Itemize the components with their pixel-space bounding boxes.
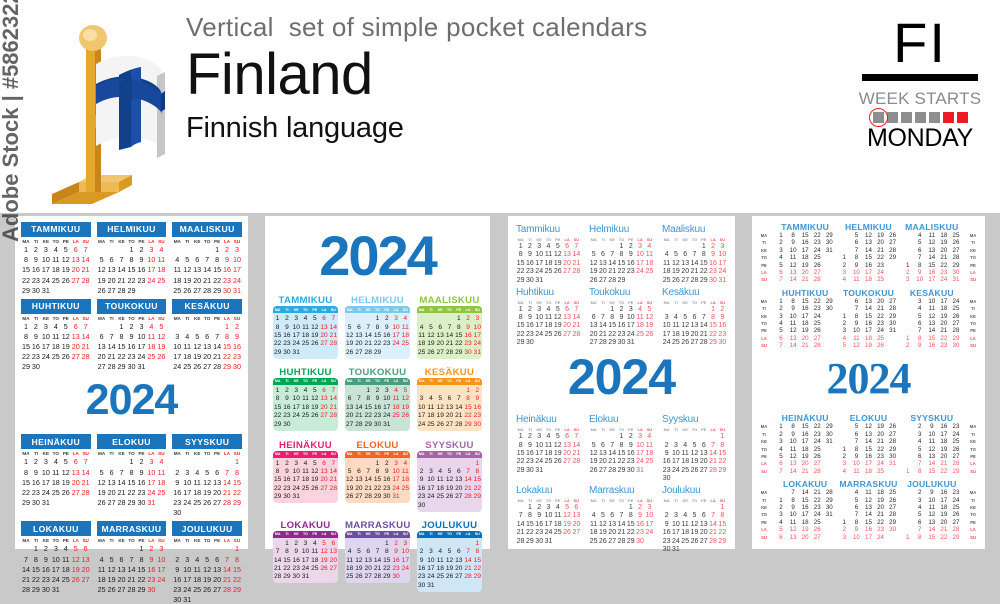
weekday-label: MA — [97, 451, 107, 456]
weekday-days-line: 5121926 — [775, 526, 835, 533]
weekday-label: SU — [645, 427, 654, 432]
weekday-days-line: 18152229 — [902, 468, 962, 475]
days-grid: 1234567891011121314151617181920212223242… — [662, 243, 727, 284]
day-cell: 5 — [345, 468, 354, 475]
day-cell: 19 — [589, 268, 598, 275]
weekday-header-row: MATIKETOPELASU — [97, 316, 167, 321]
weekday-label: KE — [117, 316, 127, 321]
weekday-label: PE — [310, 452, 319, 456]
weekday-label: KE — [965, 504, 981, 511]
day-cell: 24 — [535, 268, 544, 275]
day-cell: 10 — [146, 255, 156, 264]
day-cell: 16 — [626, 450, 635, 457]
day-cell — [699, 475, 708, 482]
weekday-label: MA — [273, 379, 282, 383]
weekday-label: SU — [156, 538, 166, 543]
day-cell: 6 — [107, 255, 117, 264]
day-cell: 9 — [708, 251, 717, 258]
day-cell: 24 — [635, 268, 644, 275]
day-cell: 26 — [681, 339, 690, 346]
weekday-header-row: MATIKETOPELASU — [589, 498, 654, 503]
tagline: Vertical set of simple pocket calendars — [186, 12, 846, 43]
day-cell: 7 — [850, 305, 862, 312]
day-cell: 26 — [310, 412, 319, 419]
day-cell: 22 — [117, 352, 127, 361]
day-cell: 9 — [787, 431, 799, 438]
weekday-label: TO — [301, 452, 310, 456]
weekday-header-row: MATIKETOPELASU — [273, 531, 338, 538]
day-cell: 15 — [617, 450, 626, 457]
weekday-days-line: 7142128 — [775, 489, 835, 496]
day-cell: 21 — [572, 260, 581, 267]
weekday-label: LA — [71, 239, 81, 244]
day-cell: 17 — [136, 342, 146, 351]
day-cell — [436, 540, 445, 547]
month-name: Joulukuu — [662, 485, 727, 496]
day-cell: 8 — [850, 446, 862, 453]
weekday-label: KE — [535, 300, 544, 305]
day-cell: 2 — [282, 460, 291, 467]
days-grid: 1234567891011121314151617181920212223242… — [97, 544, 167, 594]
day-cell: 10 — [635, 442, 644, 449]
day-cell: 8 — [626, 512, 635, 519]
day-cell: 18 — [938, 232, 950, 239]
day-cell: 9 — [373, 395, 382, 402]
day-cell: 30 — [282, 493, 291, 500]
day-cell: 9 — [31, 255, 41, 264]
day-cell: 4 — [914, 305, 926, 312]
weekday-label: TO — [690, 498, 699, 503]
day-cell: 25 — [811, 254, 823, 261]
weekday-days-line: 3101724 — [838, 269, 898, 276]
day-cell: 1 — [373, 460, 382, 467]
day-cell: 12 — [97, 478, 107, 487]
day-cell — [222, 508, 232, 517]
day-cell: 22 — [708, 331, 717, 338]
day-cell: 29 — [823, 298, 835, 305]
day-cell — [823, 519, 835, 526]
day-cell: 25 — [156, 276, 166, 285]
day-cell — [617, 504, 626, 511]
day-cell: 14 — [364, 476, 373, 483]
weekday-label: SU — [718, 427, 727, 432]
weekday-days-line: 6132027 — [775, 460, 835, 467]
day-cell — [463, 582, 472, 589]
day-cell — [708, 546, 717, 553]
day-cell: 21 — [708, 458, 717, 465]
weekday-days-line: 310172431 — [902, 276, 962, 283]
days-grid: 1234567891011121314151617181920212223242… — [273, 313, 338, 359]
day-cell: 21 — [445, 340, 454, 347]
day-cell: 23 — [222, 276, 232, 285]
weekday-label: TO — [690, 427, 699, 432]
day-cell: 13 — [345, 404, 354, 411]
day-cell: 4 — [301, 387, 310, 394]
day-cell: 8 — [273, 395, 282, 402]
day-cell — [222, 595, 232, 604]
day-cell: 19 — [436, 412, 445, 419]
day-cell: 31 — [887, 460, 899, 467]
weekday-label-column: MATIKETOPELASU — [756, 489, 772, 541]
weekday-label: MA — [589, 237, 598, 242]
weekday-days-line: 4111825 — [838, 335, 898, 342]
weekday-days-line: 7142128 — [902, 526, 962, 533]
day-cell — [319, 421, 328, 428]
day-cell — [718, 475, 727, 482]
day-cell — [463, 540, 472, 547]
day-cell: 14 — [202, 265, 212, 274]
day-cell — [690, 546, 699, 553]
day-cell — [572, 467, 581, 474]
day-cell: 16 — [862, 320, 874, 327]
day-cell: 25 — [544, 458, 553, 465]
day-cell: 10 — [850, 327, 862, 334]
day-cell: 20 — [364, 565, 373, 572]
day-cell: 12 — [436, 404, 445, 411]
day-cell: 27 — [212, 585, 222, 594]
day-cell: 23 — [875, 262, 887, 269]
day-cell: 9 — [525, 314, 534, 321]
day-cell: 28 — [690, 277, 699, 284]
day-cell: 2 — [292, 540, 301, 547]
day-cell: 5 — [445, 548, 454, 555]
day-cell: 19 — [182, 276, 192, 285]
day-cell: 2 — [525, 243, 534, 250]
day-cell: 10 — [787, 247, 799, 254]
day-cell: 26 — [671, 277, 680, 284]
day-cell: 28 — [608, 467, 617, 474]
day-cell: 14 — [598, 322, 607, 329]
days-grid: 1234567891011121314151617181920212223242… — [172, 322, 242, 372]
day-cell: 20 — [329, 557, 338, 564]
day-cell — [887, 342, 899, 349]
day-cell: 10 — [535, 314, 544, 321]
day-cell: 7 — [775, 468, 787, 475]
weekday-label: LA — [562, 237, 571, 242]
weekday-days-line: 7142128 — [902, 327, 962, 334]
weekday-label: MA — [21, 239, 31, 244]
day-cell — [310, 573, 319, 580]
day-cell: 3 — [775, 511, 787, 518]
day-cell: 3 — [41, 322, 51, 331]
day-cell: 26 — [690, 467, 699, 474]
day-cell: 2 — [838, 453, 850, 460]
day-cell: 2 — [282, 315, 291, 322]
weekday-days-line: 4111825 — [902, 504, 962, 511]
day-cell: 16 — [172, 575, 182, 584]
day-cell: 22 — [232, 575, 242, 584]
day-cell: 30 — [473, 421, 482, 428]
day-cell: 9 — [662, 450, 671, 457]
weekday-label: LA — [319, 532, 328, 536]
day-cell — [662, 504, 671, 511]
weekday-label: PE — [454, 532, 463, 536]
day-cell: 20 — [938, 247, 950, 254]
day-cell: 3 — [535, 243, 544, 250]
day-cell — [775, 489, 787, 496]
weekday-label: PE — [310, 532, 319, 536]
day-cell: 24 — [156, 575, 166, 584]
weekday-header-row: MATIKETOPELASU — [417, 451, 482, 458]
day-cell — [301, 349, 310, 356]
day-cell: 17 — [292, 476, 301, 483]
month-name: Elokuu — [589, 414, 654, 425]
day-cell: 19 — [862, 342, 874, 349]
day-cell — [823, 468, 835, 475]
weekday-label: SU — [401, 532, 410, 536]
month-block: 5121926613202771421281815222929162330310… — [838, 423, 898, 475]
day-cell: 14 — [222, 478, 232, 487]
day-cell: 12 — [445, 476, 454, 483]
day-cell: 29 — [608, 339, 617, 346]
weekday-label: KE — [364, 308, 373, 312]
day-cell: 26 — [589, 277, 598, 284]
day-cell: 27 — [454, 573, 463, 580]
weekday-label: KE — [41, 451, 51, 456]
day-cell: 6 — [699, 512, 708, 519]
day-cell: 16 — [31, 265, 41, 274]
day-cell: 6 — [914, 519, 926, 526]
weekday-label: PE — [626, 300, 635, 305]
day-cell: 30 — [31, 362, 41, 371]
day-cell: 10 — [146, 468, 156, 477]
day-cell: 24 — [938, 276, 950, 283]
day-cell: 1 — [838, 313, 850, 320]
weekday-label: SU — [965, 276, 981, 283]
day-cell: 10 — [172, 342, 182, 351]
day-cell — [838, 247, 850, 254]
day-cell: 2 — [838, 320, 850, 327]
day-cell: 26 — [950, 313, 962, 320]
day-cell — [902, 497, 914, 504]
day-cell: 14 — [787, 276, 799, 283]
day-cell: 24 — [718, 268, 727, 275]
weekday-label: TO — [690, 300, 699, 305]
day-cell: 6 — [192, 255, 202, 264]
day-cell: 8 — [850, 313, 862, 320]
weekday-label: PE — [61, 316, 71, 321]
day-cell: 10 — [156, 555, 166, 564]
day-cell: 14 — [926, 460, 938, 467]
day-cell: 24 — [875, 269, 887, 276]
day-cell: 6 — [445, 395, 454, 402]
month-name: MARRASKUU — [345, 519, 410, 531]
weekday-label: PE — [756, 519, 772, 526]
day-cell: 10 — [787, 438, 799, 445]
day-cell: 20 — [875, 239, 887, 246]
weekday-label: TI — [282, 379, 291, 383]
day-cell — [645, 538, 654, 545]
day-cell: 15 — [136, 565, 146, 574]
day-cell: 29 — [887, 446, 899, 453]
weekday-label: PE — [965, 453, 981, 460]
day-cell: 24 — [182, 498, 192, 507]
day-cell: 30 — [823, 431, 835, 438]
weekday-label: TI — [598, 300, 607, 305]
day-cell: 10 — [182, 478, 192, 487]
day-cell: 11 — [426, 404, 435, 411]
day-cell: 24 — [41, 276, 51, 285]
day-cell: 25 — [681, 538, 690, 545]
day-cell: 11 — [301, 395, 310, 402]
day-cell: 18 — [681, 458, 690, 465]
day-cell: 26 — [401, 412, 410, 419]
day-cell: 15 — [21, 265, 31, 274]
day-cell: 23 — [617, 331, 626, 338]
day-cell: 18 — [799, 320, 811, 327]
weekday-days-line: 18152229 — [775, 298, 835, 305]
weekday-days-line: 5121926 — [838, 232, 898, 239]
month-name: LOKAKUU — [21, 521, 91, 536]
day-cell: 15 — [516, 450, 525, 457]
day-cell: 19 — [938, 313, 950, 320]
day-cell: 15 — [273, 404, 282, 411]
weekday-header-row: MATIKETOPELASU — [345, 451, 410, 458]
day-cell — [345, 540, 354, 547]
month-name: JOULUKUU — [417, 519, 482, 531]
days-grid: 1234567891011121314151617181920212223242… — [589, 433, 654, 474]
day-cell: 29 — [136, 585, 146, 594]
weekday-label: LA — [391, 379, 400, 383]
day-cell: 29 — [950, 468, 962, 475]
day-cell: 4 — [301, 460, 310, 467]
day-cell: 11 — [544, 314, 553, 321]
day-cell: 20 — [212, 575, 222, 584]
day-cell: 4 — [671, 314, 680, 321]
day-cell: 20 — [699, 529, 708, 536]
day-cell: 19 — [938, 511, 950, 518]
weekday-label: SU — [81, 538, 91, 543]
day-cell: 18 — [938, 504, 950, 511]
day-cell — [887, 534, 899, 541]
day-cell: 24 — [232, 276, 242, 285]
day-cell: 3 — [391, 315, 400, 322]
day-cell: 21 — [598, 331, 607, 338]
day-cell: 7 — [608, 442, 617, 449]
day-cell: 11 — [51, 255, 61, 264]
day-cell: 1 — [136, 544, 146, 553]
day-cell: 19 — [202, 488, 212, 497]
day-cell: 14 — [862, 438, 874, 445]
day-cell: 10 — [401, 548, 410, 555]
day-cell: 30 — [708, 277, 717, 284]
weekday-days-line: 3101724 — [838, 534, 898, 541]
day-cell — [902, 305, 914, 312]
month-name: HEINÄKUU — [775, 413, 835, 423]
day-cell: 19 — [107, 575, 117, 584]
day-cell — [562, 467, 571, 474]
day-cell: 10 — [850, 460, 862, 467]
day-cell: 13 — [202, 342, 212, 351]
day-cell: 6 — [71, 245, 81, 254]
weekday-label: SU — [965, 342, 981, 349]
weekday-label: LA — [146, 239, 156, 244]
weekday-label: KE — [681, 427, 690, 432]
weekday-days-line: 7142128 — [838, 438, 898, 445]
day-cell: 7 — [329, 315, 338, 322]
country-code: FI — [856, 16, 984, 70]
weekday-days-line: 29162330 — [775, 239, 835, 246]
day-cell: 20 — [938, 519, 950, 526]
day-cell: 12 — [445, 557, 454, 564]
weekday-label: TI — [354, 532, 363, 536]
day-cell: 16 — [127, 342, 137, 351]
day-cell: 6 — [319, 460, 328, 467]
weekday-label: TI — [756, 431, 772, 438]
day-cell: 25 — [391, 412, 400, 419]
day-cell: 27 — [345, 421, 354, 428]
month-name: HUHTIKUU — [21, 299, 91, 314]
day-cell: 7 — [516, 512, 525, 519]
day-cell: 30 — [172, 508, 182, 517]
day-cell: 5 — [775, 327, 787, 334]
weekday-days-line: 7142128 — [838, 511, 898, 518]
month-name: HUHTIKUU — [273, 366, 338, 378]
day-cell — [887, 276, 899, 283]
day-cell — [838, 239, 850, 246]
weekday-days-line: 18152229 — [838, 313, 898, 320]
day-cell: 31 — [823, 438, 835, 445]
day-cell: 28 — [202, 286, 212, 295]
day-cell: 7 — [354, 395, 363, 402]
month-name: JOULUKUU — [902, 479, 962, 489]
day-cell: 12 — [61, 255, 71, 264]
day-cell: 27 — [699, 467, 708, 474]
day-cell — [662, 243, 671, 250]
day-cell: 20 — [212, 488, 222, 497]
day-cell: 17 — [41, 478, 51, 487]
day-cell: 10 — [787, 511, 799, 518]
month-name: Syyskuu — [662, 414, 727, 425]
day-cell: 1 — [127, 245, 137, 254]
day-cell: 4 — [156, 457, 166, 466]
day-cell: 26 — [887, 497, 899, 504]
day-cell: 12 — [310, 468, 319, 475]
weekday-label: KE — [192, 451, 202, 456]
day-cell — [838, 305, 850, 312]
day-cell — [572, 339, 581, 346]
day-cell: 11 — [787, 320, 799, 327]
weekday-label: KE — [965, 438, 981, 445]
weekday-days-line: 6132027 — [775, 269, 835, 276]
day-cell: 26 — [950, 239, 962, 246]
weekday-label: TO — [51, 239, 61, 244]
day-cell: 10 — [41, 255, 51, 264]
day-cell: 31 — [301, 573, 310, 580]
weekday-label: LA — [146, 451, 156, 456]
day-cell: 2 — [525, 433, 534, 440]
day-cell: 6 — [775, 534, 787, 541]
month-name: MAALISKUU — [417, 294, 482, 306]
day-cell: 22 — [127, 488, 137, 497]
day-cell: 29 — [473, 573, 482, 580]
day-cell: 30 — [617, 339, 626, 346]
weekday-label: TO — [617, 498, 626, 503]
day-cell — [681, 504, 690, 511]
day-cell: 10 — [787, 313, 799, 320]
day-cell: 13 — [562, 442, 571, 449]
day-cell: 25 — [811, 519, 823, 526]
day-cell: 6 — [850, 298, 862, 305]
day-cell: 11 — [926, 305, 938, 312]
month-block: SYYSKUUMATIKETOPELASU1234567891011121314… — [417, 439, 482, 512]
day-cell: 19 — [445, 565, 454, 572]
day-cell: 7 — [463, 468, 472, 475]
weekday-label: TI — [598, 427, 607, 432]
day-cell: 5 — [850, 423, 862, 430]
day-cell — [146, 362, 156, 371]
day-cell: 17 — [926, 276, 938, 283]
